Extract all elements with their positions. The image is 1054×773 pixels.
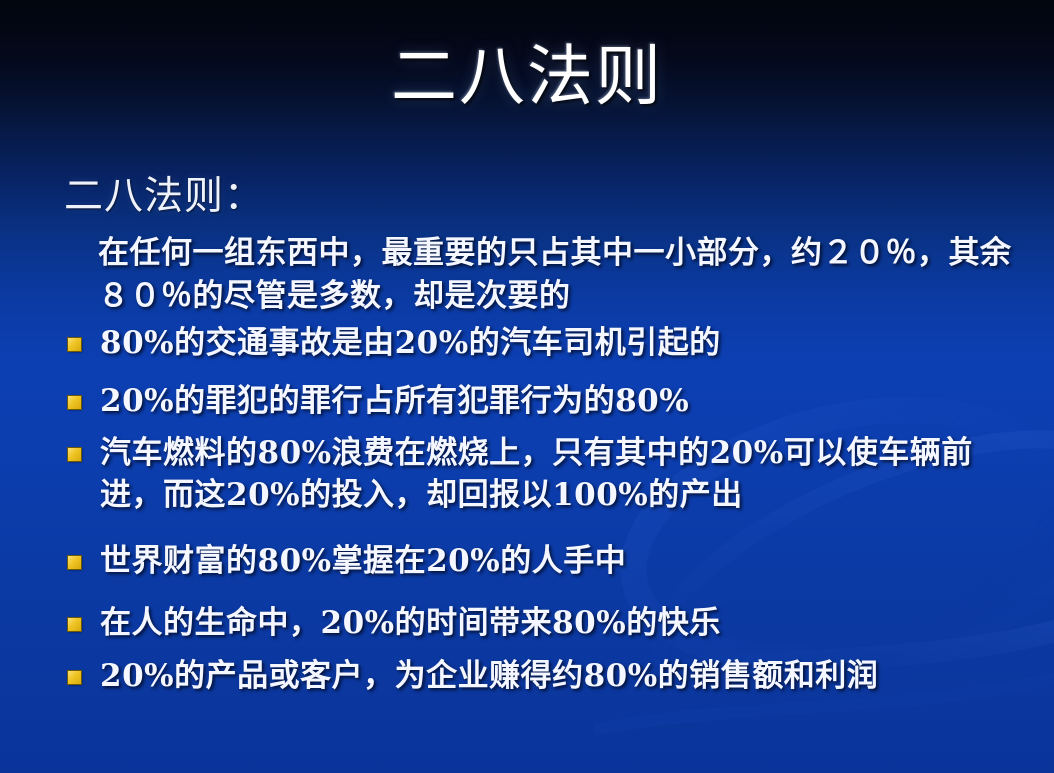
presentation-slide: 二八法则 二八法则： 在任何一组东西中，最重要的只占其中一小部分，约２０％，其余… xyxy=(0,0,1054,773)
list-item-label: 世界财富的80%掌握在20%的人手中 xyxy=(100,543,626,579)
bullet-square-icon xyxy=(68,618,81,631)
list-item-label: 20%的罪犯的罪行占所有犯罪行为的80% xyxy=(100,383,689,419)
list-item: 世界财富的80%掌握在20%的人手中 xyxy=(56,540,1024,582)
body-heading: 二八法则： xyxy=(64,176,1024,218)
bullet-square-icon xyxy=(68,556,81,569)
list-item: 汽车燃料的80%浪费在燃烧上，只有其中的20%可以使车辆前进，而这20%的投入，… xyxy=(56,432,1024,516)
bullet-square-icon xyxy=(68,338,81,351)
list-item-label: 汽车燃料的80%浪费在燃烧上，只有其中的20%可以使车辆前进，而这20%的投入，… xyxy=(100,435,973,513)
list-item-label: 80%的交通事故是由20%的汽车司机引起的 xyxy=(100,325,721,361)
bullet-square-icon xyxy=(68,396,81,409)
bullet-list: 80%的交通事故是由20%的汽车司机引起的 20%的罪犯的罪行占所有犯罪行为的8… xyxy=(56,322,1024,697)
slide-body: 二八法则： 在任何一组东西中，最重要的只占其中一小部分，约２０％，其余８０％的尽… xyxy=(56,176,1024,697)
list-item-label: 在人的生命中，20%的时间带来80%的快乐 xyxy=(100,605,721,641)
list-item: 20%的产品或客户，为企业赚得约80%的销售额和利润 xyxy=(56,655,1024,697)
lead-paragraph: 在任何一组东西中，最重要的只占其中一小部分，约２０％，其余８０％的尽管是多数，却… xyxy=(56,232,1024,318)
bullet-square-icon xyxy=(68,671,81,684)
slide-title: 二八法则 xyxy=(0,42,1054,111)
list-item: 20%的罪犯的罪行占所有犯罪行为的80% xyxy=(56,380,1024,422)
list-item-label: 20%的产品或客户，为企业赚得约80%的销售额和利润 xyxy=(100,658,878,694)
bullet-square-icon xyxy=(68,448,81,461)
list-item: 在人的生命中，20%的时间带来80%的快乐 xyxy=(56,602,1024,644)
list-item: 80%的交通事故是由20%的汽车司机引起的 xyxy=(56,322,1024,364)
